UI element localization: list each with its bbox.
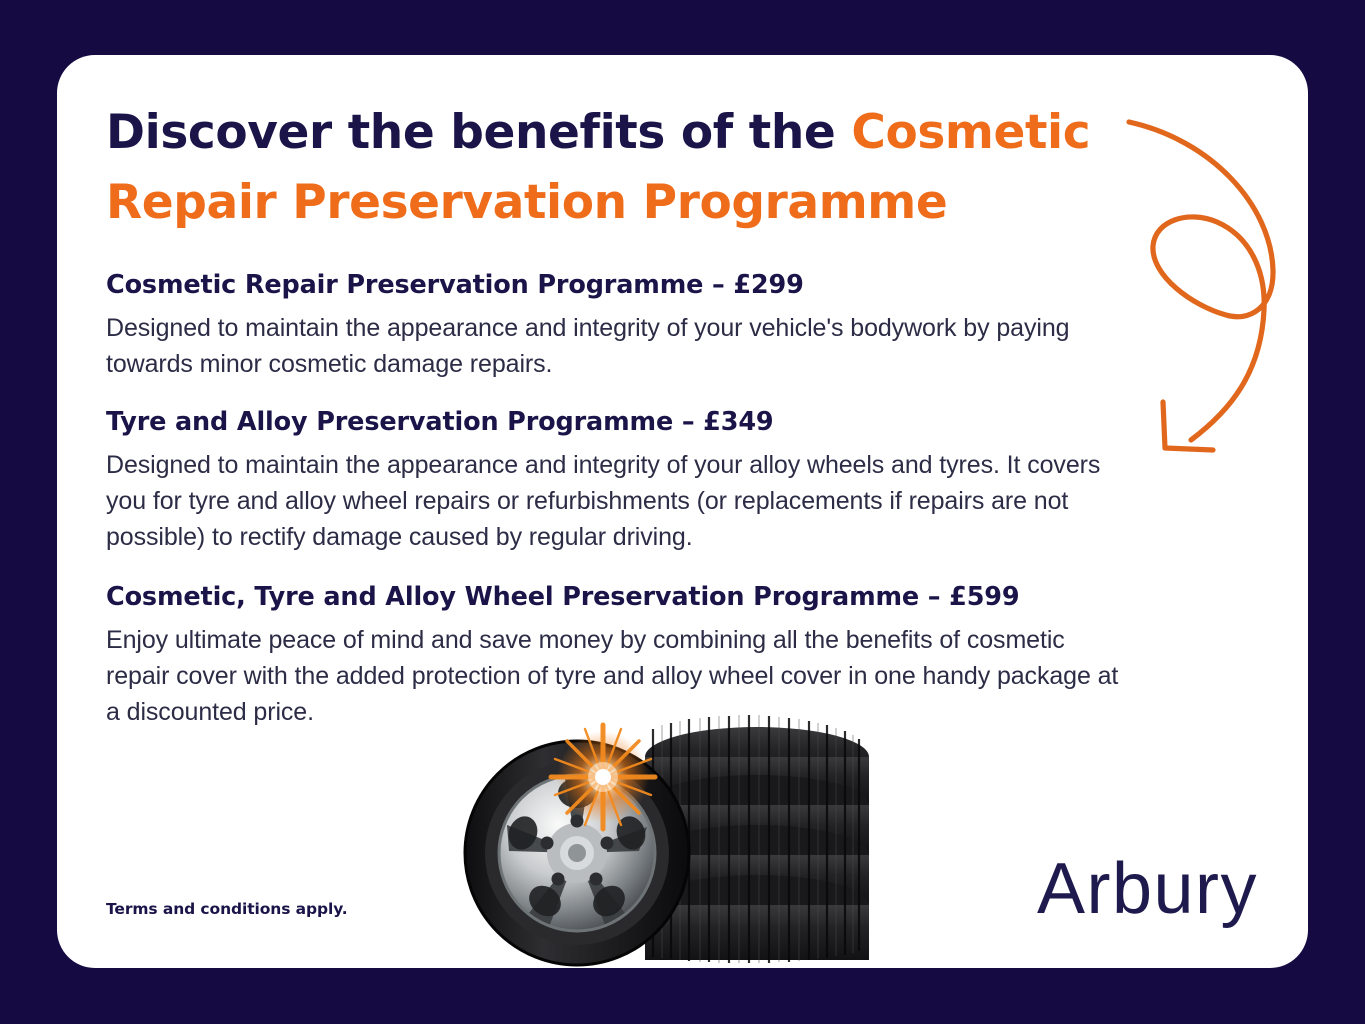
poster-canvas: Discover the benefits of the Cosmetic Re… [0, 0, 1365, 1024]
content-card: Discover the benefits of the Cosmetic Re… [57, 55, 1308, 968]
page-title: Discover the benefits of the Cosmetic Re… [106, 98, 1116, 237]
programme-description: Designed to maintain the appearance and … [106, 310, 1131, 382]
arbury-logo: Arbury [1037, 853, 1258, 925]
programme-description: Enjoy ultimate peace of mind and save mo… [106, 622, 1131, 730]
front-alloy-wheel [465, 741, 689, 965]
rim-spokes [507, 779, 647, 927]
page-title-navy-part: Discover the benefits of the [106, 105, 851, 160]
tyre-stack-image [457, 705, 877, 968]
programme-section: Cosmetic, Tyre and Alloy Wheel Preservat… [106, 582, 1131, 730]
programme-section: Tyre and Alloy Preservation Programme – … [106, 407, 1131, 555]
programme-section: Cosmetic Repair Preservation Programme –… [106, 270, 1131, 382]
programme-description: Designed to maintain the appearance and … [106, 447, 1131, 555]
lug-bolts [541, 815, 614, 886]
programme-heading: Tyre and Alloy Preservation Programme – … [106, 407, 1131, 439]
swirl-arrow-icon [1121, 110, 1308, 490]
terms-and-conditions-note: Terms and conditions apply. [106, 900, 348, 918]
sparkle-icon [551, 725, 655, 829]
programme-heading: Cosmetic Repair Preservation Programme –… [106, 270, 1131, 302]
programme-heading: Cosmetic, Tyre and Alloy Wheel Preservat… [106, 582, 1131, 614]
tyre-stack-rear [645, 715, 869, 963]
